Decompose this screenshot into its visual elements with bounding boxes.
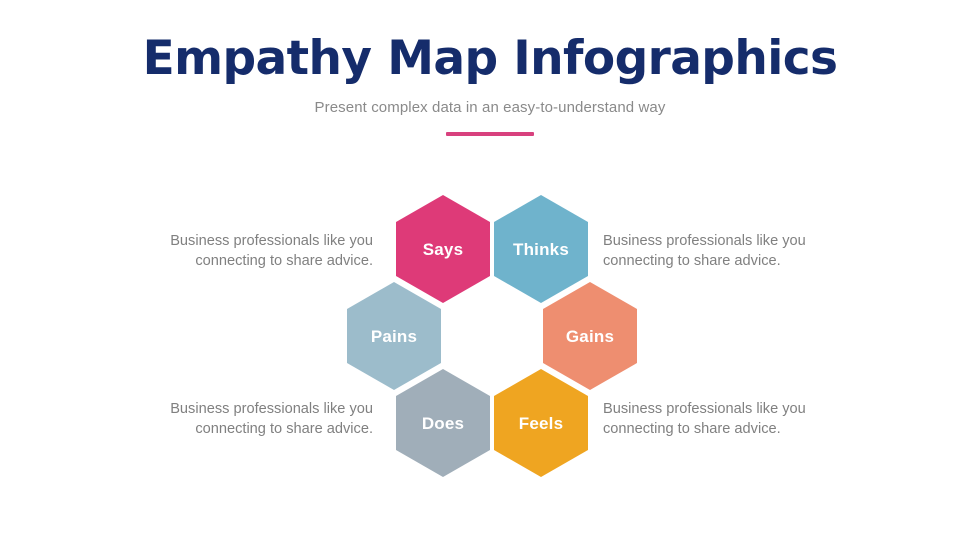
hex-says[interactable]: Says (396, 195, 490, 303)
hex-does-label: Does (422, 415, 464, 432)
note-top-left: Business professionals like you connecti… (158, 231, 373, 271)
hex-feels-label: Feels (519, 415, 563, 432)
hex-pains-label: Pains (371, 328, 417, 345)
hex-thinks[interactable]: Thinks (494, 195, 588, 303)
hex-says-label: Says (423, 241, 464, 258)
hex-thinks-label: Thinks (513, 241, 569, 258)
note-top-right: Business professionals like you connecti… (603, 231, 818, 271)
hex-feels[interactable]: Feels (494, 369, 588, 477)
empathy-hex-cluster: Says Thinks Pains Gains Does Feels (344, 195, 636, 477)
hex-pains[interactable]: Pains (347, 282, 441, 390)
header-block: Empathy Map Infographics Present complex… (0, 34, 980, 136)
hex-does[interactable]: Does (396, 369, 490, 477)
page-subtitle: Present complex data in an easy-to-under… (0, 99, 980, 117)
slide-canvas: Empathy Map Infographics Present complex… (0, 0, 980, 551)
note-bottom-left: Business professionals like you connecti… (158, 399, 373, 439)
hex-gains[interactable]: Gains (543, 282, 637, 390)
hex-gains-label: Gains (566, 328, 614, 345)
title-divider (446, 132, 534, 136)
note-bottom-right: Business professionals like you connecti… (603, 399, 818, 439)
page-title: Empathy Map Infographics (0, 34, 980, 85)
